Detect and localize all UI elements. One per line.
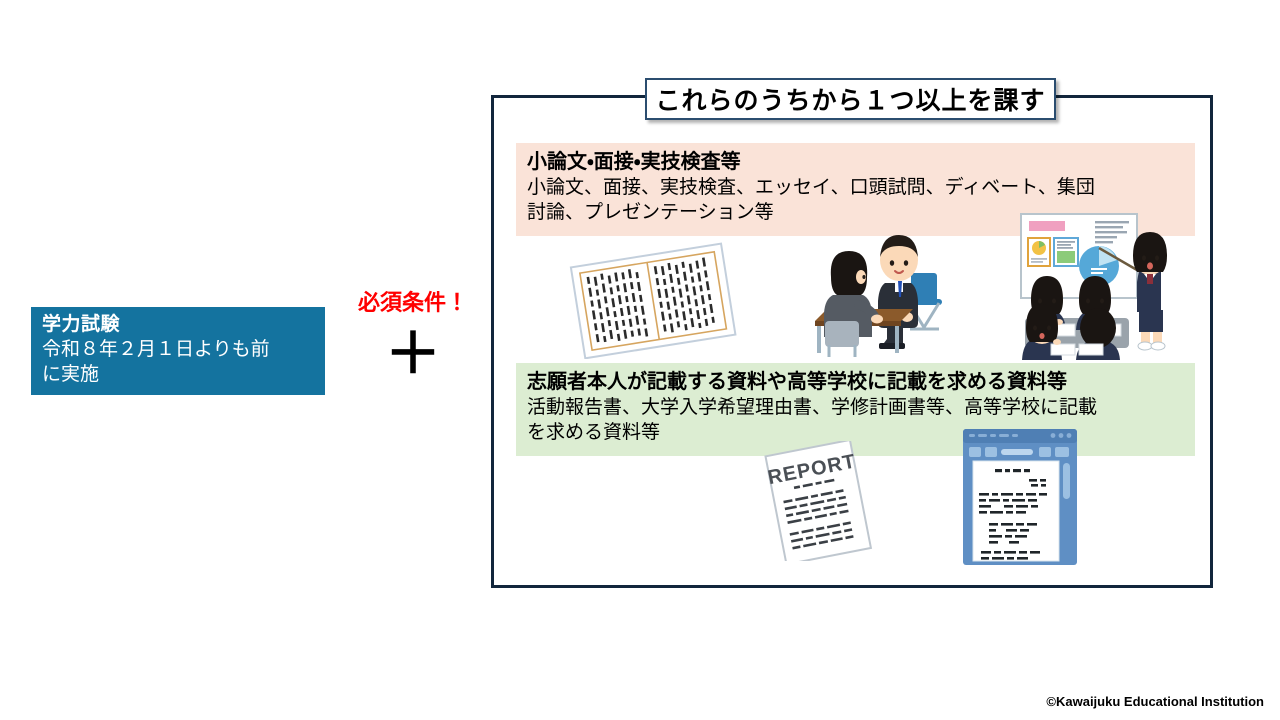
- exam-box-subtitle-line1: 令和８年２月１日よりも前: [42, 337, 315, 362]
- block-documents-heading: 志願者本人が記載する資料や高等学校に記載を求める資料等: [527, 370, 1185, 395]
- panel-caption-text: これらのうちから１つ以上を課す: [655, 81, 1045, 117]
- panel-caption-box: これらのうちから１つ以上を課す: [645, 78, 1056, 120]
- interview-scene-illustration: [803, 225, 993, 360]
- online-document-window-illustration: [961, 427, 1079, 567]
- plus-icon: ＋: [348, 327, 478, 383]
- block-documents-body-line1: 活動報告書、大学入学希望理由書、学修計画書等、高等学校に記載: [527, 395, 1185, 420]
- block-essay-body-line1: 小論文、面接、実技検査、エッセイ、口頭試問、ディベート、集団: [527, 175, 1185, 200]
- open-manuscript-paper-illustration: [563, 241, 743, 359]
- report-paper-illustration: REPORT: [755, 441, 883, 561]
- group-presentation-illustration: [1011, 208, 1183, 360]
- slide-canvas: 学力試験 令和８年２月１日よりも前 に実施 必須条件！ ＋ 小論文・面接・実技検…: [0, 0, 1280, 720]
- exam-box-subtitle-line2: に実施: [42, 362, 315, 387]
- selection-panel: 小論文・面接・実技検査等 小論文、面接、実技検査、エッセイ、口頭試問、ディベート…: [491, 95, 1213, 588]
- block-essay-heading: 小論文・面接・実技検査等: [527, 150, 1185, 175]
- exam-requirement-box: 学力試験 令和８年２月１日よりも前 に実施: [31, 307, 325, 395]
- required-condition-label: 必須条件！: [348, 285, 478, 317]
- exam-box-title: 学力試験: [42, 313, 315, 337]
- copyright-credit: ©Kawaijuku Educational Institution: [1046, 694, 1264, 709]
